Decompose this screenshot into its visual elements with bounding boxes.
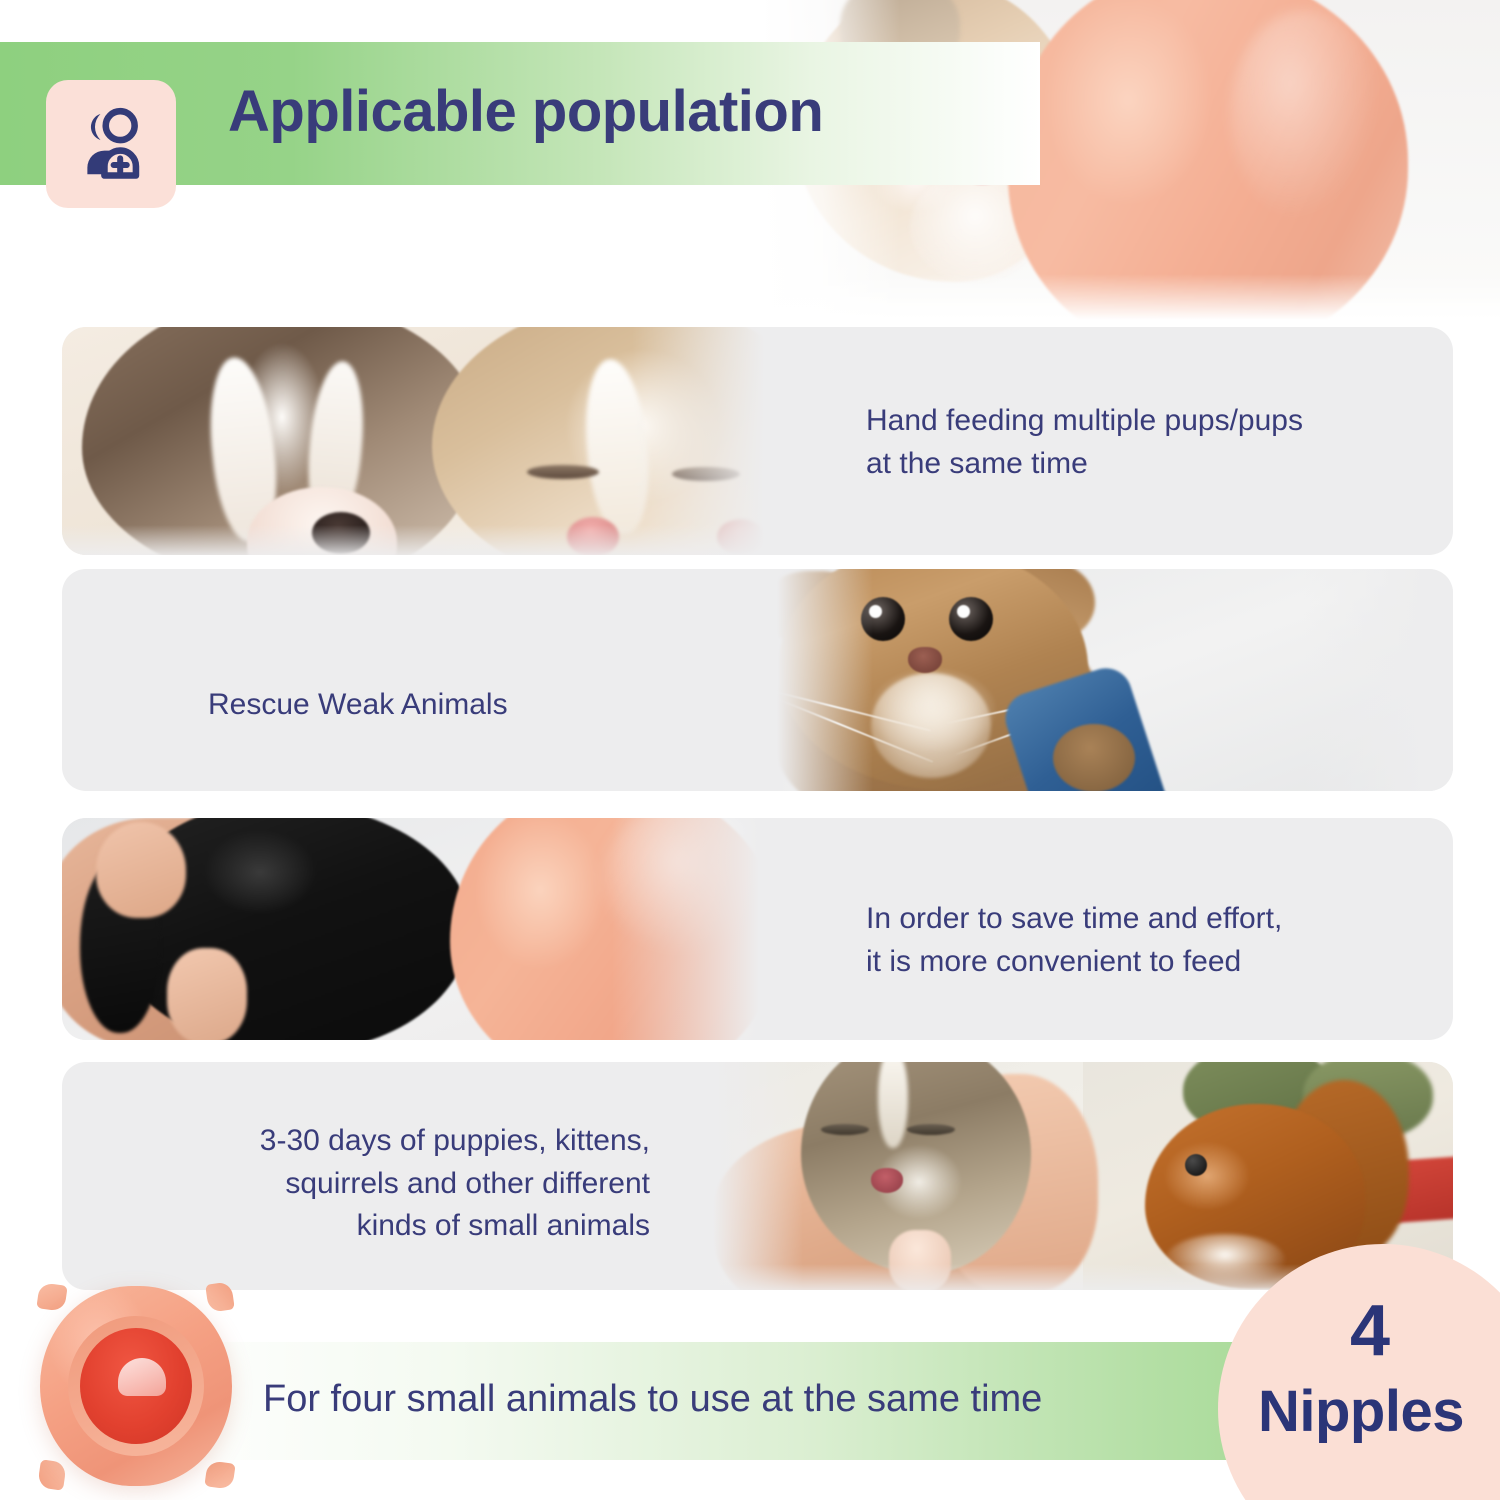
footer-caption: For four small animals to use at the sam…: [263, 1378, 1042, 1421]
row3-hand-thumb: [96, 822, 186, 918]
nipple-tab-top-left: [36, 1282, 67, 1312]
newborn-kitten-eye-left: [821, 1124, 869, 1135]
row3-right-fade: [612, 818, 822, 1040]
row-panel-2: [62, 569, 1453, 791]
kitten2-eye-right: [949, 597, 993, 641]
hero-bottle-highlight: [1230, 10, 1380, 220]
black-puppy-bottle-photo: [62, 818, 822, 1040]
husky-puppies-photo: [62, 327, 802, 555]
nipple-tab-bottom-left: [37, 1459, 67, 1490]
row-4-caption: 3-30 days of puppies, kittens, squirrels…: [190, 1120, 650, 1248]
row2-right-fade: [1303, 569, 1453, 791]
tabby-kitten-photo: [753, 569, 1453, 791]
row2-left-fade: [753, 569, 873, 791]
people-add-icon-tile: [46, 80, 176, 208]
newborn-kitten-eye-right: [907, 1124, 955, 1135]
row1-right-fade: [632, 327, 802, 555]
silicone-nipple-product: [22, 1272, 250, 1500]
newborn-kitten-nose: [871, 1168, 903, 1193]
page-title: Applicable population: [228, 78, 823, 145]
row-3-caption: In order to save time and effort, it is …: [866, 898, 1282, 983]
hero-bottom-fade: [760, 274, 1500, 320]
nipple-tab-bottom-right: [204, 1460, 235, 1490]
badge-number: 4: [1350, 1290, 1390, 1372]
row4-left-fade: [693, 1062, 803, 1290]
husky-right-eye-left: [527, 465, 599, 479]
row3-hand-finger: [167, 948, 247, 1040]
kitten2-paw: [1053, 724, 1135, 791]
kitten2-eye-glint-right: [957, 605, 970, 618]
badge-label: Nipples: [1258, 1378, 1464, 1445]
people-add-icon: [69, 102, 153, 186]
nipple-tab-top-right: [205, 1281, 235, 1312]
infographic-page: Applicable population Hand feeding multi…: [0, 0, 1500, 1500]
squirrel-eye: [1185, 1154, 1207, 1176]
row-1-caption: Hand feeding multiple pups/pups at the s…: [866, 400, 1303, 485]
kitten2-nose: [908, 647, 942, 673]
row-2-caption: Rescue Weak Animals: [208, 684, 508, 727]
